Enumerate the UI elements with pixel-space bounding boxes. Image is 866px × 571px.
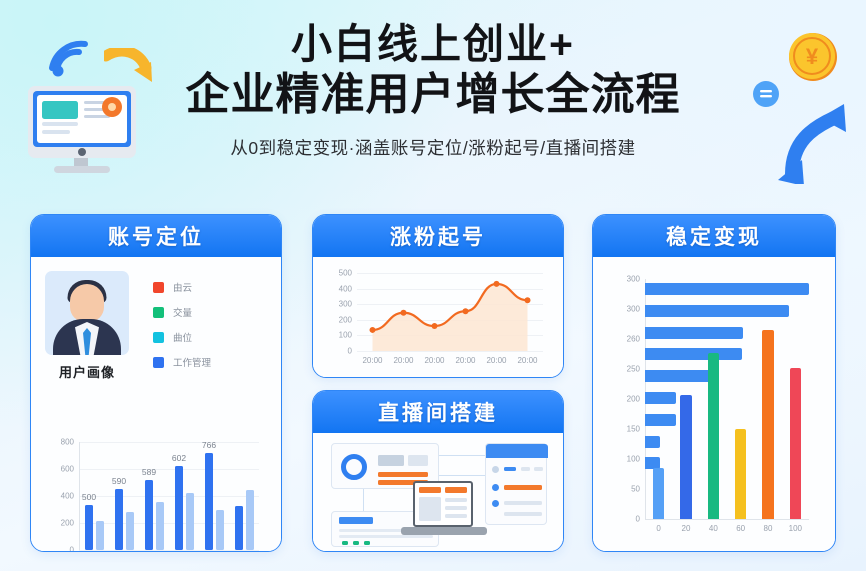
panel-block [445,506,467,510]
y-axis-tick: 200 [627,395,640,404]
y-axis-tick: 0 [636,515,640,524]
y-axis-tick: 0 [70,546,74,553]
title-line-1: 小白线上创业+ [0,22,866,68]
list-bullet [492,466,499,473]
horizontal-bar [645,348,742,360]
x-axis-tick: 20:00 [393,356,413,365]
vertical-bar [680,395,691,519]
y-axis-tick: 300 [627,305,640,314]
panel-block [339,535,433,538]
panel-block [353,541,359,545]
panel-block [408,455,428,466]
y-axis-tick: 100 [339,331,352,340]
avatar [45,271,129,355]
legend-item: 曲位 [153,330,211,344]
panel-block [378,472,428,477]
legend-label: 工作管理 [173,355,211,369]
x-axis-tick: 80 [764,524,773,533]
legend-label: 由云 [173,280,192,294]
panel-header-bar [486,444,548,458]
legend-item: 交量 [153,305,211,319]
bar-value-label: 766 [202,440,216,450]
horizontal-bar [645,370,717,382]
gridline [357,351,543,352]
gridline [79,496,259,497]
legend-label: 曲位 [173,330,192,344]
vertical-bar [653,468,664,519]
avatar-label: 用户画像 [45,362,129,381]
chart-legend: 由云 交量 曲位 工作管理 [129,271,211,381]
vertical-bar [735,429,746,519]
gridline [79,442,259,443]
bar-value-label: 590 [112,476,126,486]
laptop-screen [413,481,473,527]
card-stable-monetization[interactable]: 稳定变现 05010015020025026030030002040608010… [592,214,836,552]
legend-item: 工作管理 [153,355,211,369]
yen-coin-icon: ¥ [786,30,840,84]
panel-block [419,497,441,521]
bar-primary [115,489,123,550]
panel-block [534,467,543,471]
list-bullet [492,500,499,507]
x-axis-tick: 20:00 [362,356,382,365]
bar-primary [175,466,183,550]
double-curved-arrow-blue-icon [776,98,850,184]
x-axis-tick: 20:00 [486,356,506,365]
card-fans-title: 涨粉起号 [390,221,486,251]
y-axis-tick: 260 [627,335,640,344]
income-combo-chart: 050100150200250260300300020406080100 [645,279,809,519]
panel-block [419,487,441,493]
x-axis-tick: 40 [709,524,718,533]
laptop-base [401,527,487,535]
hero-title-block: 小白线上创业+ 企业精准用户增长全流程 从0到稳定变现·涵盖账号定位/涨粉起号/… [0,22,866,160]
legend-swatch [153,282,164,293]
hero-banner: 小白线上创业+ 企业精准用户增长全流程 从0到稳定变现·涵盖账号定位/涨粉起号/… [0,0,866,205]
connector-line [439,475,487,476]
x-axis-tick: 20:00 [424,356,444,365]
bar-value-label: 500 [82,492,96,502]
donut-chart-icon [341,454,367,480]
account-bar-chart: 020040060080050020:0059019:0058919:00602… [79,442,259,550]
list-bullet [492,484,499,491]
gridline [79,469,259,470]
card-fans-header: 涨粉起号 [313,215,563,257]
y-axis-tick: 800 [61,438,74,447]
panel-block [445,487,467,493]
card-fan-growth[interactable]: 涨粉起号 010020030040050020:0020:0020:0020:0… [312,214,564,378]
card-live-header: 直播间搭建 [313,391,563,433]
gridline [79,550,259,551]
y-axis-tick: 250 [627,365,640,374]
legend-swatch [153,357,164,368]
y-axis-tick: 200 [61,519,74,528]
y-axis-tick: 100 [627,455,640,464]
hero-subtitle: 从0到稳定变现·涵盖账号定位/涨粉起号/直播间搭建 [0,135,866,160]
x-axis-tick: 60 [736,524,745,533]
bar-secondary [246,490,254,550]
y-axis-tick: 400 [61,492,74,501]
card-fans-body: 010020030040050020:0020:0020:0020:0020:0… [313,257,563,377]
x-axis-tick: 100 [789,524,802,533]
bar-secondary [186,493,194,550]
panel-block [504,512,542,516]
area-chart-svg [357,273,543,351]
card-live-body [313,433,563,551]
panel-header-bar [339,517,373,524]
y-axis-tick: 200 [339,315,352,324]
vertical-bar [790,368,801,519]
y-axis-line [79,442,80,550]
panel-block [445,514,467,518]
bar-primary [205,453,213,550]
avatar-legend-row: 用户画像 由云 交量 曲位 工作管理 [31,257,281,385]
bar-secondary [96,521,104,550]
card-livestream-setup[interactable]: 直播间搭建 [312,390,564,552]
horizontal-bar [645,327,743,339]
x-axis-tick: 20 [682,524,691,533]
card-income-header: 稳定变现 [593,215,835,257]
panel-block [364,541,370,545]
legend-swatch [153,307,164,318]
vertical-bar [762,330,773,519]
card-income-body: 050100150200250260300300020406080100 [593,257,835,551]
bar-primary [85,505,93,550]
y-axis-tick: 150 [627,425,640,434]
gridline [79,523,259,524]
y-axis-tick: 50 [631,485,640,494]
bar-secondary [216,510,224,551]
card-income-title: 稳定变现 [666,221,762,251]
panel-block [521,467,530,471]
title-line-2: 企业精准用户增长全流程 [0,70,866,121]
card-account-body: 用户画像 由云 交量 曲位 工作管理 [31,257,281,551]
legend-swatch [153,332,164,343]
connector-line [363,489,364,511]
bar-value-label: 589 [142,467,156,477]
horizontal-bar [645,283,809,295]
y-axis-tick: 500 [339,269,352,278]
bar-secondary [126,512,134,550]
list-panel [485,443,547,525]
panel-block [342,541,348,545]
panel-block [504,501,542,505]
y-axis-tick: 0 [348,347,352,356]
x-axis-tick: 20:00 [455,356,475,365]
panel-block [504,485,542,490]
horizontal-bar [645,392,676,404]
panel-block [378,455,404,466]
horizontal-bar [645,436,660,448]
legend-item: 由云 [153,280,211,294]
vertical-bar [708,353,719,520]
y-axis-tick: 400 [339,284,352,293]
bar-primary [145,480,153,550]
avatar-block: 用户画像 [45,271,129,381]
card-account-title: 账号定位 [108,221,204,251]
card-account-positioning[interactable]: 账号定位 用户画像 由云 交量 [30,214,282,552]
card-account-header: 账号定位 [31,215,281,257]
bar-secondary [156,502,164,550]
bar-value-label: 602 [172,453,186,463]
y-axis-tick: 300 [627,275,640,284]
horizontal-bar [645,305,789,317]
horizontal-bar [645,414,676,426]
x-axis-line [645,519,809,520]
y-axis-tick: 300 [339,300,352,309]
svg-text:¥: ¥ [806,44,819,69]
card-live-title: 直播间搭建 [378,397,498,427]
panel-block [445,498,467,502]
y-axis-tick: 600 [61,465,74,474]
panel-block [504,467,516,471]
bar-primary [235,506,243,550]
livestream-illustration [313,433,563,551]
legend-label: 交量 [173,305,192,319]
x-axis-tick: 20:00 [517,356,537,365]
x-axis-tick: 0 [656,524,660,533]
fans-line-chart: 010020030040050020:0020:0020:0020:0020:0… [357,273,543,351]
